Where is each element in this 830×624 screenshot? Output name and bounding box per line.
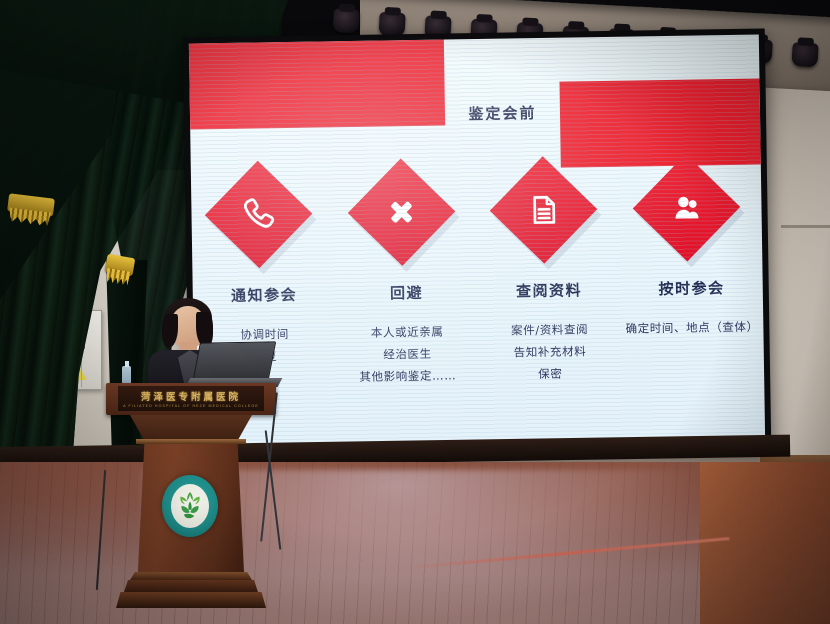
podium-neck — [130, 415, 252, 441]
body-line: 告知补充材料 — [511, 340, 588, 363]
logo-inner-disc — [171, 484, 209, 528]
document-icon — [495, 161, 592, 258]
column-body: 确定时间、地点（查体） — [625, 316, 758, 340]
presentation-room-photo: 鉴定会前 通知参会 协调时间 — [0, 0, 830, 624]
phone-icon — [210, 166, 307, 263]
right-wall-seam — [781, 225, 830, 228]
column-heading: 查阅资料 — [516, 279, 582, 301]
podium-base-lower — [116, 592, 266, 608]
leaf-icon — [175, 490, 205, 522]
slide-title: 鉴定会前 — [445, 82, 561, 144]
people-icon — [637, 159, 734, 256]
podium: 菏泽医专附属医院 A FILIATED HOSPITAL OF HEZE MED… — [106, 383, 276, 611]
podium-base-mid — [124, 580, 258, 592]
curtain-tassel-lower — [105, 254, 136, 277]
column-body: 案件/资料查阅 告知补充材料 保密 — [511, 318, 589, 385]
stage-light — [378, 12, 405, 37]
slide-header-band-left — [189, 39, 445, 129]
podium-nameplate: 菏泽医专附属医院 A FILIATED HOSPITAL OF HEZE MED… — [118, 386, 264, 411]
slide-column-attendance: 按时参会 确定时间、地点（查体） — [618, 155, 765, 443]
podium-name-en: A FILIATED HOSPITAL OF HEZE MEDICAL COLL… — [123, 404, 259, 408]
cross-x-icon — [353, 163, 450, 260]
stage-floor-right — [700, 462, 830, 624]
diamond-badge-document — [495, 161, 601, 267]
stage-light — [791, 42, 818, 67]
hospital-leaf-logo — [162, 475, 218, 537]
column-heading: 通知参会 — [231, 284, 297, 306]
podium-name-cn: 菏泽医专附属医院 — [141, 389, 241, 403]
slide-column-review: 查阅资料 案件/资料查阅 告知补充材料 保密 — [476, 157, 623, 445]
slide-column-recusal: 回避 本人或近亲属 经治医生 其他影响鉴定…… — [333, 159, 480, 447]
podium-base-upper — [130, 572, 252, 580]
diamond-badge-cross — [353, 163, 459, 269]
body-line: 保密 — [512, 362, 589, 385]
podium-band — [136, 439, 246, 444]
diamond-badge-people — [637, 159, 743, 265]
diamond-badge-phone — [210, 166, 316, 272]
body-line: 经治医生 — [359, 342, 456, 366]
column-heading: 按时参会 — [658, 277, 724, 299]
column-body: 本人或近亲属 经治医生 其他影响鉴定…… — [359, 320, 457, 388]
body-line: 本人或近亲属 — [359, 320, 456, 344]
column-heading: 回避 — [390, 282, 423, 304]
body-line: 其他影响鉴定…… — [359, 364, 456, 388]
stage-light — [333, 8, 360, 33]
body-line: 案件/资料查阅 — [511, 318, 588, 341]
slide-columns: 通知参会 协调时间 回复 — [191, 155, 765, 450]
body-line: 确定时间、地点（查体） — [625, 316, 758, 340]
